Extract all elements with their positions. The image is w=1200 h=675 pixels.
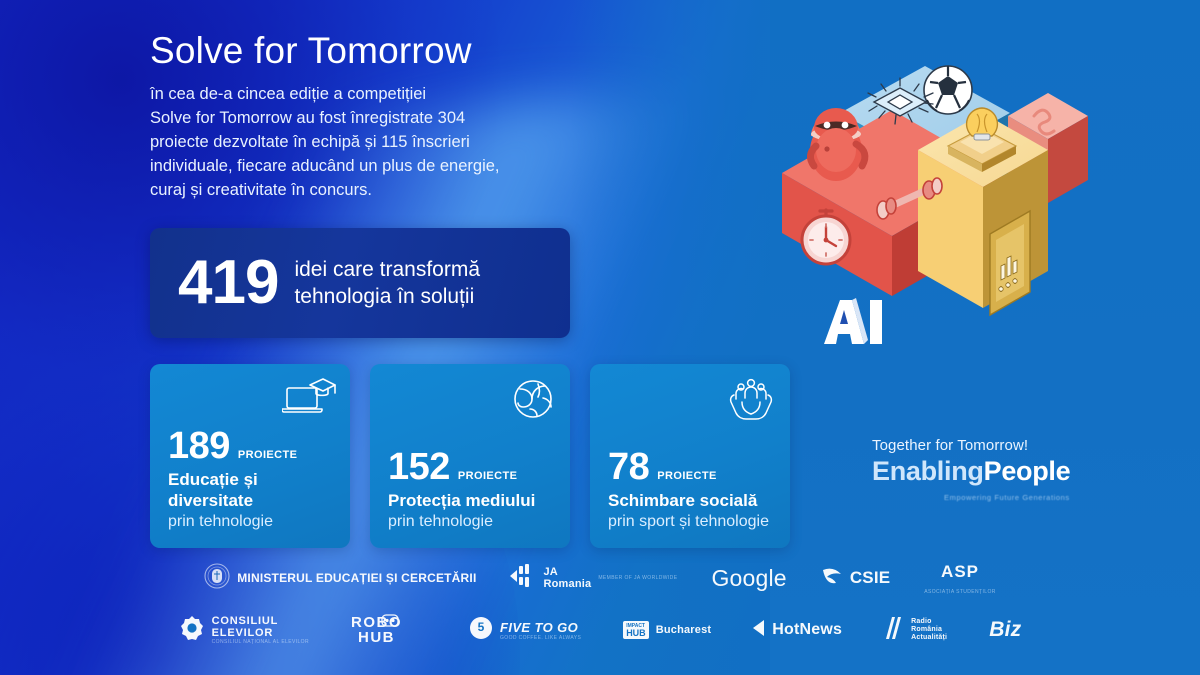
stat-card-number: 152 bbox=[388, 448, 450, 486]
logo-fine-print: MEMBER OF JA WORLDWIDE bbox=[598, 575, 677, 581]
stat-card-subtitle: prin tehnologie bbox=[388, 511, 558, 532]
intro-line-3: proiecte dezvoltate în echipă și 115 îns… bbox=[150, 130, 590, 154]
robot-face-icon bbox=[381, 614, 399, 632]
hero-stat-text: idei care transformă tehnologia în soluț… bbox=[294, 256, 480, 310]
logo-label: JA Romania bbox=[543, 566, 591, 590]
stat-card-environment: 152 PROIECTE Protecția mediului prin teh… bbox=[370, 364, 570, 548]
partner-logo-row-2: CONSILIUL ELEVILOR CONSILIUL NAȚIONAL AL… bbox=[0, 608, 1200, 652]
logo-label: FIVE TO GO bbox=[500, 620, 581, 635]
stat-card-list: 189 PROIECTE Educație și diversitate pri… bbox=[150, 364, 790, 548]
logo-csie: CSIE bbox=[821, 566, 890, 591]
logo-robo-hub: ROBO HUB bbox=[351, 615, 427, 645]
tagline-top-line: Together for Tomorrow! bbox=[872, 437, 1070, 454]
impact-hub-badge-icon: IMPACT HUB bbox=[623, 621, 649, 639]
stat-card-number: 78 bbox=[608, 448, 649, 486]
logo-label: Bucharest bbox=[656, 624, 712, 636]
stat-card-number: 189 bbox=[168, 427, 230, 465]
hero-stat-card: 419 idei care transformă tehnologia în s… bbox=[150, 228, 570, 338]
globe-leaf-icon bbox=[510, 376, 556, 427]
hands-people-icon bbox=[726, 376, 776, 427]
stat-card-title: Protecția mediului bbox=[388, 490, 558, 511]
impact-hub-badge-line-2: HUB bbox=[626, 630, 646, 637]
logo-hotnews: HotNews bbox=[753, 620, 842, 641]
logo-five-to-go: 5 FIVE TO GO GOOD COFFEE. LIKE ALWAYS bbox=[469, 616, 581, 645]
logo-text-stack: FIVE TO GO GOOD COFFEE. LIKE ALWAYS bbox=[500, 620, 581, 641]
intro-paragraph: în cea de-a cincea ediție a competiției … bbox=[150, 82, 590, 202]
logo-ja-romania: JA Romania MEMBER OF JA WORLDWIDE bbox=[510, 564, 677, 593]
gear-icon bbox=[179, 615, 205, 646]
tagline-fine-print: Empowering Future Generations bbox=[944, 493, 1070, 502]
stat-card-unit: PROIECTE bbox=[458, 470, 517, 482]
logo-google: Google bbox=[711, 565, 786, 592]
ja-mark-icon bbox=[510, 564, 536, 593]
stat-card-number-line: 189 PROIECTE bbox=[168, 427, 338, 465]
stat-card-subtitle: prin tehnologie bbox=[168, 511, 338, 532]
logo-fine-print: ASOCIAȚIA STUDENȚILOR bbox=[924, 589, 995, 595]
stat-card-unit: PROIECTE bbox=[657, 470, 716, 482]
logo-consiliul-elevilor: CONSILIUL ELEVILOR CONSILIUL NAȚIONAL AL… bbox=[179, 615, 309, 646]
stat-card-body: 78 PROIECTE Schimbare socială prin sport… bbox=[608, 448, 778, 532]
stat-card-title: Schimbare socială bbox=[608, 490, 778, 511]
hero-stat-number: 419 bbox=[178, 252, 278, 314]
svg-text:5: 5 bbox=[478, 620, 485, 634]
intro-line-2: Solve for Tomorrow au fost înregistrate … bbox=[150, 106, 590, 130]
partner-logo-row-1: MINISTERUL EDUCAȚIEI ȘI CERCETĂRII JA Ro… bbox=[0, 556, 1200, 600]
logo-label: ASP bbox=[941, 562, 979, 582]
logo-label: CSIE bbox=[850, 568, 890, 588]
intro-line-4: individuale, fiecare aducând un plus de … bbox=[150, 154, 590, 178]
logo-biz: Biz bbox=[989, 618, 1021, 642]
intro-line-5: curaj și creativitate în concurs. bbox=[150, 178, 590, 202]
stat-card-number-line: 78 PROIECTE bbox=[608, 448, 778, 486]
logo-label: MINISTERUL EDUCAȚIEI ȘI CERCETĂRII bbox=[237, 571, 476, 585]
logo-radio-romania-actualitati: Radio România Actualități bbox=[884, 617, 947, 644]
tagline-block: Together for Tomorrow! EnablingPeople Em… bbox=[872, 437, 1070, 502]
tagline-main-line: EnablingPeople bbox=[872, 456, 1070, 487]
stat-card-subtitle: prin sport și tehnologie bbox=[608, 511, 778, 532]
tagline-word-people: People bbox=[984, 456, 1071, 486]
logo-text-stack: CONSILIUL ELEVILOR CONSILIUL NAȚIONAL AL… bbox=[212, 615, 309, 645]
logo-label: Biz bbox=[989, 618, 1021, 642]
logo-label: HotNews bbox=[772, 621, 842, 639]
stat-card-title: Educație și diversitate bbox=[168, 469, 338, 511]
flag-icon bbox=[753, 620, 765, 641]
csie-swoosh-icon bbox=[821, 566, 843, 591]
hero-stat-line-1: idei care transformă bbox=[294, 256, 480, 283]
logo-impact-hub-bucharest: IMPACT HUB Bucharest bbox=[623, 621, 711, 639]
logo-text-stack: JA Romania bbox=[543, 566, 591, 590]
logo-label: Radio România Actualități bbox=[911, 618, 947, 642]
tagline-word-enabling: Enabling bbox=[872, 456, 984, 486]
stat-card-body: 189 PROIECTE Educație și diversitate pri… bbox=[168, 427, 338, 532]
stat-card-education: 189 PROIECTE Educație și diversitate pri… bbox=[150, 364, 350, 548]
romanian-crest-icon bbox=[204, 563, 230, 594]
logo-ministerul-educatiei: MINISTERUL EDUCAȚIEI ȘI CERCETĂRII bbox=[204, 563, 476, 594]
laptop-graduation-cap-icon bbox=[282, 376, 336, 427]
logo-fine-print: GOOD COFFEE. LIKE ALWAYS bbox=[500, 635, 581, 641]
stat-card-social: 78 PROIECTE Schimbare socială prin sport… bbox=[590, 364, 790, 548]
logo-asp: ASP ASOCIAȚIA STUDENȚILOR bbox=[924, 562, 995, 595]
stat-card-unit: PROIECTE bbox=[238, 449, 297, 461]
hero-stat-line-2: tehnologia în soluții bbox=[294, 283, 480, 310]
logo-label: CONSILIUL ELEVILOR bbox=[212, 615, 309, 639]
logo-fine-print: CONSILIUL NAȚIONAL AL ELEVILOR bbox=[212, 639, 309, 645]
five-badge-icon: 5 bbox=[469, 616, 493, 645]
stat-card-number-line: 152 PROIECTE bbox=[388, 448, 558, 486]
stat-card-body: 152 PROIECTE Protecția mediului prin teh… bbox=[388, 448, 558, 532]
partner-logos: MINISTERUL EDUCAȚIEI ȘI CERCETĂRII JA Ro… bbox=[0, 556, 1200, 652]
logo-label: Google bbox=[711, 565, 786, 592]
isometric-blocks-illustration bbox=[770, 28, 1090, 373]
radio-waves-icon bbox=[884, 617, 904, 644]
intro-line-1: în cea de-a cincea ediție a competiției bbox=[150, 82, 590, 106]
page-title: Solve for Tomorrow bbox=[150, 30, 472, 72]
